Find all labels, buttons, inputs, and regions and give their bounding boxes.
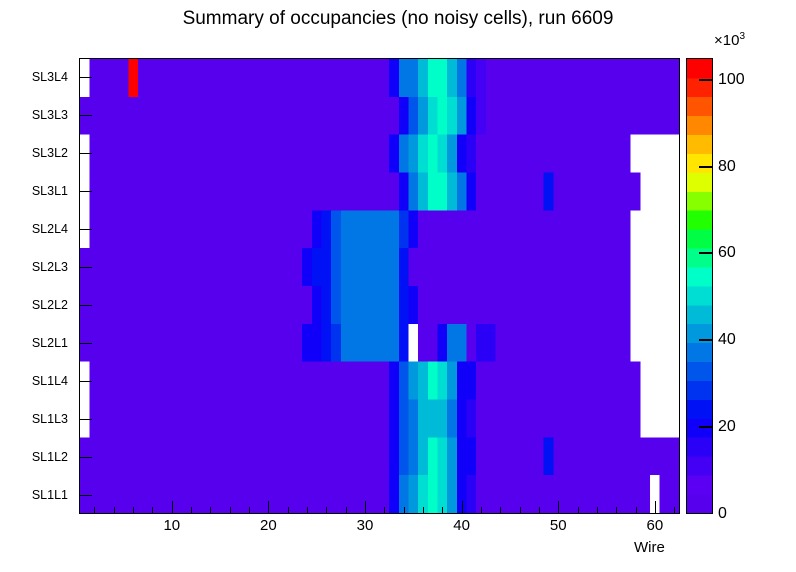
colorbar-tick-label: 0	[718, 505, 727, 523]
heatmap-cell	[602, 362, 612, 400]
heatmap-cell	[148, 135, 158, 173]
heatmap-cell	[408, 173, 418, 211]
heatmap-cell	[186, 286, 196, 324]
heatmap-cell	[621, 248, 631, 286]
heatmap-cell	[128, 248, 138, 286]
heatmap-cell	[215, 286, 225, 324]
heatmap-cell	[322, 362, 332, 400]
heatmap-cell	[592, 286, 602, 324]
heatmap-cell	[621, 400, 631, 438]
heatmap-cell	[486, 475, 496, 513]
heatmap-cell	[235, 286, 245, 324]
colorbar-band	[687, 475, 712, 494]
heatmap-cell	[573, 248, 583, 286]
heatmap-cell	[592, 324, 602, 362]
colorbar-band	[687, 248, 712, 267]
x-axis-minor-tick	[404, 507, 405, 514]
heatmap-cell	[215, 173, 225, 211]
heatmap-cell	[99, 59, 109, 97]
heatmap-cell	[157, 97, 167, 135]
heatmap-cell	[408, 59, 418, 97]
heatmap-cell	[302, 210, 312, 248]
heatmap-cell	[293, 248, 303, 286]
heatmap-cell	[235, 173, 245, 211]
heatmap-cell	[380, 210, 390, 248]
heatmap-cell	[302, 248, 312, 286]
heatmap-cell	[544, 59, 554, 97]
heatmap-cell	[486, 59, 496, 97]
colorbar-band	[687, 381, 712, 400]
heatmap-cell	[476, 59, 486, 97]
heatmap-cell	[264, 173, 274, 211]
heatmap-cell	[602, 97, 612, 135]
x-axis-minor-tick	[191, 507, 192, 514]
heatmap-cell	[495, 400, 505, 438]
heatmap-cell	[273, 437, 283, 475]
heatmap-cell	[621, 173, 631, 211]
heatmap-cell	[553, 362, 563, 400]
heatmap-cell	[380, 135, 390, 173]
heatmap-cell	[524, 59, 534, 97]
heatmap-cell	[505, 97, 515, 135]
heatmap-cell	[177, 362, 187, 400]
x-axis-minor-tick	[442, 507, 443, 514]
heatmap-cell	[611, 362, 621, 400]
x-axis-minor-tick	[616, 507, 617, 514]
heatmap-cell	[457, 97, 467, 135]
heatmap-cell	[254, 437, 264, 475]
heatmap-cell	[650, 286, 660, 324]
heatmap-cell	[505, 324, 515, 362]
heatmap-cell	[264, 210, 274, 248]
heatmap-cell	[138, 97, 148, 135]
heatmap-cell	[573, 324, 583, 362]
heatmap-cell	[563, 173, 573, 211]
heatmap-cell	[486, 362, 496, 400]
heatmap-cell	[225, 210, 235, 248]
heatmap-cell	[602, 437, 612, 475]
heatmap-cell	[128, 59, 138, 97]
heatmap-cell	[553, 173, 563, 211]
heatmap-cell	[437, 173, 447, 211]
heatmap-cell	[418, 59, 428, 97]
heatmap-cell	[215, 59, 225, 97]
heatmap-cell	[592, 135, 602, 173]
heatmap-cell	[466, 248, 476, 286]
heatmap-cell	[486, 97, 496, 135]
heatmap-cell	[544, 400, 554, 438]
y-axis-tick-label: SL2L1	[32, 336, 68, 350]
heatmap-cell	[196, 97, 206, 135]
heatmap-cell	[428, 210, 438, 248]
heatmap-cell	[177, 248, 187, 286]
heatmap-cell	[466, 437, 476, 475]
heatmap-cell	[119, 286, 129, 324]
heatmap-cell	[611, 97, 621, 135]
heatmap-cell	[341, 135, 351, 173]
heatmap-cell	[669, 59, 679, 97]
heatmap-cell	[186, 437, 196, 475]
heatmap-cell	[534, 362, 544, 400]
x-axis-major-tick	[462, 501, 463, 514]
heatmap-cell	[476, 210, 486, 248]
heatmap-cell	[99, 248, 109, 286]
heatmap-cell	[312, 324, 322, 362]
heatmap-cell	[293, 59, 303, 97]
heatmap-cell	[380, 362, 390, 400]
heatmap-cell	[515, 173, 525, 211]
heatmap-cell	[418, 286, 428, 324]
x-axis-minor-tick	[133, 507, 134, 514]
heatmap-cell	[611, 248, 621, 286]
heatmap-cell	[660, 135, 670, 173]
heatmap-cell	[351, 59, 361, 97]
heatmap-cell	[650, 97, 660, 135]
y-axis-tick-label: SL3L1	[32, 184, 68, 198]
heatmap-cell	[631, 362, 641, 400]
y-axis-tick	[79, 381, 92, 382]
x-axis-minor-tick	[326, 507, 327, 514]
heatmap-cell	[486, 210, 496, 248]
heatmap-cell	[399, 286, 409, 324]
heatmap-cell	[650, 59, 660, 97]
heatmap-cell	[360, 135, 370, 173]
heatmap-cell	[312, 286, 322, 324]
heatmap-cell	[437, 210, 447, 248]
x-axis-minor-tick	[481, 507, 482, 514]
heatmap-cell	[322, 97, 332, 135]
heatmap-cell	[264, 248, 274, 286]
heatmap-cell	[283, 362, 293, 400]
heatmap-cell	[370, 135, 380, 173]
heatmap-cell	[418, 173, 428, 211]
heatmap-cell	[495, 210, 505, 248]
heatmap-cell	[370, 324, 380, 362]
heatmap-cell	[254, 362, 264, 400]
heatmap-cell	[611, 210, 621, 248]
heatmap-cell	[476, 324, 486, 362]
heatmap-cell	[524, 362, 534, 400]
heatmap-cell	[437, 135, 447, 173]
heatmap-cell	[582, 286, 592, 324]
x-axis-tick-label: 10	[163, 517, 180, 534]
x-axis-minor-tick	[500, 507, 501, 514]
heatmap-cell	[138, 324, 148, 362]
heatmap-cell	[495, 248, 505, 286]
y-axis-tick-label: SL1L3	[32, 412, 68, 426]
heatmap-cell	[293, 97, 303, 135]
heatmap-cell	[408, 135, 418, 173]
heatmap-cell	[273, 135, 283, 173]
heatmap-cell	[196, 324, 206, 362]
heatmap-cell	[331, 173, 341, 211]
heatmap-cell	[215, 475, 225, 513]
heatmap-cell	[293, 173, 303, 211]
heatmap-cell	[244, 135, 254, 173]
heatmap-cell	[573, 286, 583, 324]
heatmap-cell	[457, 400, 467, 438]
heatmap-cell	[563, 437, 573, 475]
heatmap-cell	[244, 248, 254, 286]
heatmap-cell	[302, 97, 312, 135]
heatmap-cell	[437, 59, 447, 97]
heatmap-cell	[225, 437, 235, 475]
heatmap-cell	[553, 97, 563, 135]
x-axis-major-tick	[558, 501, 559, 514]
heatmap-cell	[119, 173, 129, 211]
heatmap-cell	[380, 437, 390, 475]
heatmap-cell	[302, 400, 312, 438]
heatmap-cell	[177, 97, 187, 135]
x-axis-tick-label: 60	[647, 517, 664, 534]
heatmap-cell	[177, 59, 187, 97]
heatmap-cell	[428, 324, 438, 362]
heatmap-cell	[370, 97, 380, 135]
heatmap-cell	[399, 97, 409, 135]
heatmap-cell	[457, 324, 467, 362]
heatmap-cell	[264, 362, 274, 400]
heatmap-cell	[283, 286, 293, 324]
heatmap-cell	[466, 286, 476, 324]
y-axis-tick	[79, 457, 92, 458]
heatmap-cell	[273, 59, 283, 97]
heatmap-cell	[408, 400, 418, 438]
heatmap-cell	[293, 286, 303, 324]
colorbar-band	[687, 191, 712, 210]
heatmap-cell	[544, 475, 554, 513]
heatmap-cell	[331, 97, 341, 135]
heatmap-cell	[148, 286, 158, 324]
heatmap-cell	[351, 437, 361, 475]
heatmap-cell	[447, 437, 457, 475]
heatmap-cell	[524, 400, 534, 438]
heatmap-cell	[264, 135, 274, 173]
heatmap-cell	[505, 362, 515, 400]
heatmap-cell	[660, 324, 670, 362]
heatmap-cell	[322, 135, 332, 173]
heatmap-cell	[457, 59, 467, 97]
heatmap-plot-area[interactable]	[79, 58, 680, 514]
y-axis-tick-label: SL3L3	[32, 108, 68, 122]
heatmap-cell	[447, 324, 457, 362]
colorbar-exponent-base: ×10	[714, 32, 739, 49]
heatmap-cell	[602, 475, 612, 513]
heatmap-cell	[563, 248, 573, 286]
x-axis-tick-label: 40	[453, 517, 470, 534]
heatmap-cell	[283, 173, 293, 211]
heatmap-cell	[254, 286, 264, 324]
heatmap-cell	[99, 97, 109, 135]
heatmap-cell	[148, 210, 158, 248]
heatmap-cell	[660, 286, 670, 324]
colorbar-band	[687, 154, 712, 173]
heatmap-cell	[370, 59, 380, 97]
heatmap-cell	[640, 135, 650, 173]
heatmap-cell	[341, 59, 351, 97]
heatmap-cell	[138, 475, 148, 513]
heatmap-cell	[428, 362, 438, 400]
heatmap-cell	[437, 286, 447, 324]
heatmap-cell	[582, 248, 592, 286]
heatmap-cell	[524, 286, 534, 324]
heatmap-cell	[486, 135, 496, 173]
heatmap-cell	[244, 210, 254, 248]
heatmap-cell	[524, 135, 534, 173]
heatmap-cell	[457, 286, 467, 324]
x-axis-minor-tick	[288, 507, 289, 514]
heatmap-cell	[177, 286, 187, 324]
heatmap-cell	[582, 324, 592, 362]
heatmap-cell	[476, 286, 486, 324]
heatmap-cell	[505, 437, 515, 475]
colorbar[interactable]	[686, 58, 713, 514]
heatmap-cell	[592, 97, 602, 135]
colorbar-band	[687, 267, 712, 286]
heatmap-cell	[283, 59, 293, 97]
heatmap-cell	[389, 248, 399, 286]
heatmap-cell	[283, 324, 293, 362]
heatmap-cell	[534, 210, 544, 248]
heatmap-cell	[602, 286, 612, 324]
heatmap-cell	[157, 362, 167, 400]
heatmap-cell	[157, 135, 167, 173]
heatmap-cell	[128, 324, 138, 362]
heatmap-cell	[544, 97, 554, 135]
heatmap-cell	[244, 324, 254, 362]
heatmap-cell	[640, 210, 650, 248]
heatmap-cell	[495, 286, 505, 324]
heatmap-cell	[592, 210, 602, 248]
heatmap-cell	[447, 475, 457, 513]
heatmap-cell	[167, 437, 177, 475]
heatmap-cell	[322, 210, 332, 248]
heatmap-cell	[544, 437, 554, 475]
heatmap-cell	[138, 210, 148, 248]
heatmap-cell	[602, 248, 612, 286]
heatmap-cell	[563, 97, 573, 135]
heatmap-cell	[109, 324, 119, 362]
y-axis-tick	[79, 229, 92, 230]
heatmap-cell	[389, 97, 399, 135]
heatmap-cell	[631, 248, 641, 286]
heatmap-cell	[370, 400, 380, 438]
heatmap-cell	[466, 210, 476, 248]
heatmap-cell	[457, 248, 467, 286]
heatmap-cell	[312, 210, 322, 248]
heatmap-cell	[505, 248, 515, 286]
heatmap-cell	[264, 286, 274, 324]
heatmap-cell	[293, 475, 303, 513]
heatmap-cell	[466, 400, 476, 438]
heatmap-cell	[351, 173, 361, 211]
heatmap-cell	[177, 324, 187, 362]
heatmap-cell	[515, 248, 525, 286]
heatmap-cell	[418, 324, 428, 362]
heatmap-cell	[428, 97, 438, 135]
heatmap-cell	[592, 437, 602, 475]
colorbar-band	[687, 210, 712, 229]
heatmap-cell	[650, 210, 660, 248]
heatmap-cell	[582, 135, 592, 173]
heatmap-cell	[447, 400, 457, 438]
heatmap-cell	[138, 135, 148, 173]
heatmap-cell	[534, 248, 544, 286]
x-axis-minor-tick	[307, 507, 308, 514]
heatmap-cell	[254, 248, 264, 286]
heatmap-cell	[109, 135, 119, 173]
heatmap-cell	[592, 173, 602, 211]
heatmap-cell	[215, 135, 225, 173]
heatmap-cell	[119, 324, 129, 362]
heatmap-cell	[476, 362, 486, 400]
heatmap-cell	[157, 248, 167, 286]
heatmap-cell	[563, 324, 573, 362]
heatmap-cell	[476, 135, 486, 173]
heatmap-cell	[650, 324, 660, 362]
heatmap-cell	[418, 248, 428, 286]
colorbar-band	[687, 400, 712, 419]
heatmap-cell	[553, 324, 563, 362]
heatmap-cell	[534, 400, 544, 438]
heatmap-cell	[235, 324, 245, 362]
heatmap-cell	[447, 173, 457, 211]
heatmap-cell	[196, 59, 206, 97]
heatmap-cell	[351, 248, 361, 286]
heatmap-cell	[640, 324, 650, 362]
heatmap-cell	[215, 210, 225, 248]
heatmap-cell	[235, 97, 245, 135]
heatmap-cell	[640, 400, 650, 438]
heatmap-cell	[293, 362, 303, 400]
heatmap-cell	[573, 135, 583, 173]
heatmap-cell	[524, 97, 534, 135]
heatmap-cell	[351, 210, 361, 248]
heatmap-cell	[544, 362, 554, 400]
heatmap-cell	[466, 475, 476, 513]
colorbar-band	[687, 343, 712, 362]
heatmap-cell	[244, 437, 254, 475]
heatmap-cell	[370, 210, 380, 248]
heatmap-cell	[640, 173, 650, 211]
heatmap-cell	[331, 248, 341, 286]
heatmap-cell	[360, 437, 370, 475]
heatmap-cell	[109, 173, 119, 211]
heatmap-cell	[631, 59, 641, 97]
x-axis-minor-tick	[384, 507, 385, 514]
heatmap-cell	[157, 400, 167, 438]
heatmap-cell	[225, 135, 235, 173]
x-axis-minor-tick	[94, 507, 95, 514]
x-axis-tick-label: 30	[357, 517, 374, 534]
colorbar-band	[687, 305, 712, 324]
heatmap-cell	[244, 400, 254, 438]
heatmap-cell	[640, 97, 650, 135]
heatmap-cell	[331, 437, 341, 475]
heatmap-cell	[351, 286, 361, 324]
heatmap-cell	[640, 437, 650, 475]
colorbar-tick-label: 40	[718, 331, 736, 349]
heatmap-cell	[351, 400, 361, 438]
heatmap-cell	[408, 475, 418, 513]
heatmap-cell	[225, 97, 235, 135]
heatmap-cell	[621, 324, 631, 362]
heatmap-cell	[660, 437, 670, 475]
heatmap-cell	[428, 59, 438, 97]
heatmap-cell	[457, 135, 467, 173]
heatmap-cell	[563, 210, 573, 248]
heatmap-cell	[244, 173, 254, 211]
heatmap-cell	[631, 324, 641, 362]
